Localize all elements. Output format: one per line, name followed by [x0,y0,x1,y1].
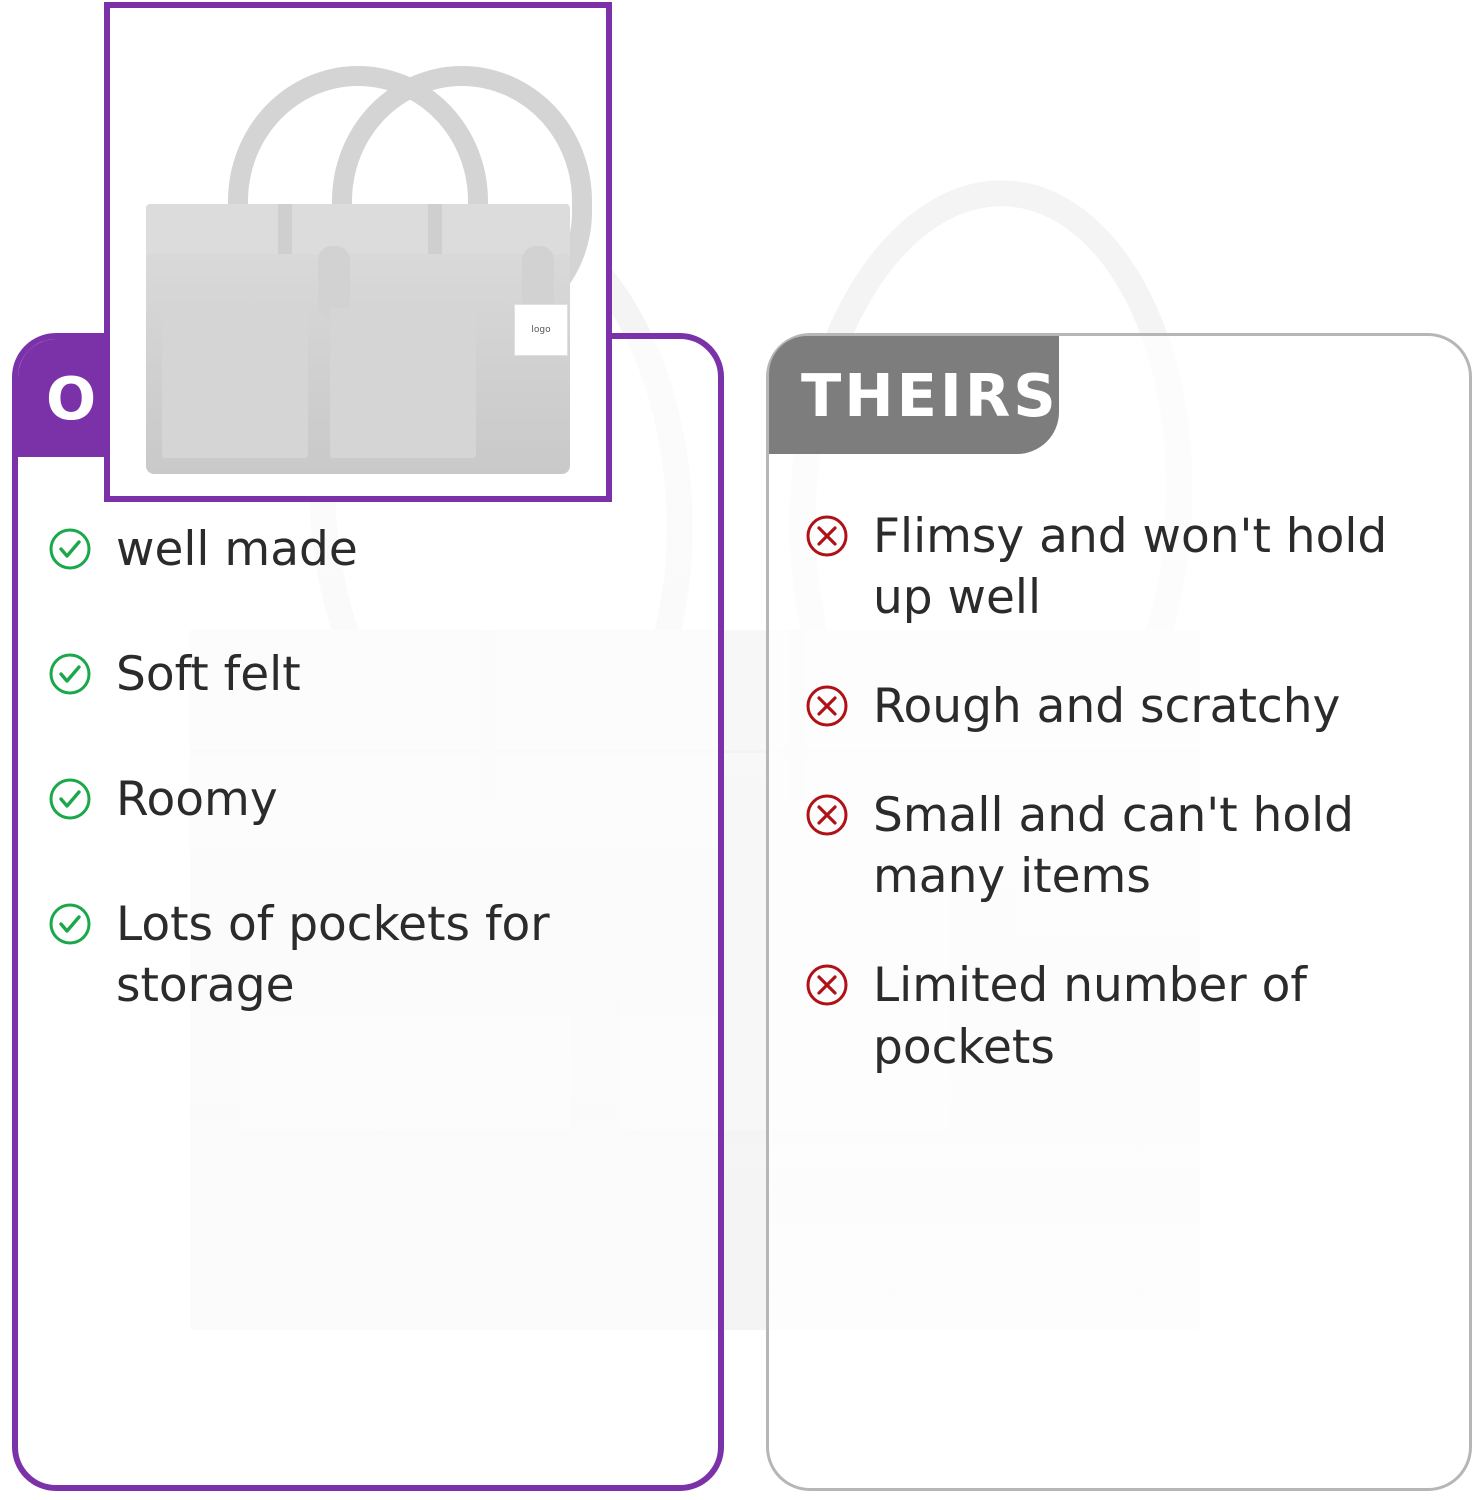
check-circle-icon [48,527,92,571]
list-item: Rough and scratchy [805,676,1435,737]
check-circle-icon [48,652,92,696]
check-circle-icon [48,777,92,821]
brand-tag: logo [514,304,568,356]
cross-circle-icon [805,793,849,837]
thumbnail-pocket-2 [330,308,476,458]
product-thumbnail-illustration: logo [110,8,606,496]
list-item-label: Flimsy and won't hold up well [873,506,1435,628]
list-item: Roomy [48,769,684,830]
cross-circle-icon [805,963,849,1007]
ours-panel: OURS well made Soft felt [12,333,724,1491]
check-circle-icon [48,902,92,946]
list-item: Small and can't hold many items [805,785,1435,907]
list-item-label: well made [116,519,358,580]
theirs-panel: THEIRS Flimsy and won't hold up well [766,333,1472,1491]
thumbnail-pocket-1 [162,308,308,458]
cross-circle-icon [805,514,849,558]
list-item-label: Roomy [116,769,278,830]
list-item: Flimsy and won't hold up well [805,506,1435,628]
list-item-label: Limited number of pockets [873,955,1435,1077]
list-item: Limited number of pockets [805,955,1435,1077]
product-inset-thumbnail: logo [104,2,612,502]
ours-feature-list: well made Soft felt Roomy [18,519,718,1016]
theirs-feature-list: Flimsy and won't hold up well Rough and … [769,506,1469,1126]
theirs-heading-ribbon: THEIRS [769,336,1059,454]
thumbnail-divider-2 [428,204,442,260]
theirs-heading-label: THEIRS [801,366,1059,425]
list-item-label: Lots of pockets for storage [116,894,684,1016]
thumbnail-divider-1 [278,204,292,260]
list-item-label: Rough and scratchy [873,676,1340,737]
list-item: Lots of pockets for storage [48,894,684,1016]
list-item: Soft felt [48,644,684,705]
list-item-label: Soft felt [116,644,301,705]
list-item-label: Small and can't hold many items [873,785,1435,907]
list-item: well made [48,519,684,580]
cross-circle-icon [805,684,849,728]
